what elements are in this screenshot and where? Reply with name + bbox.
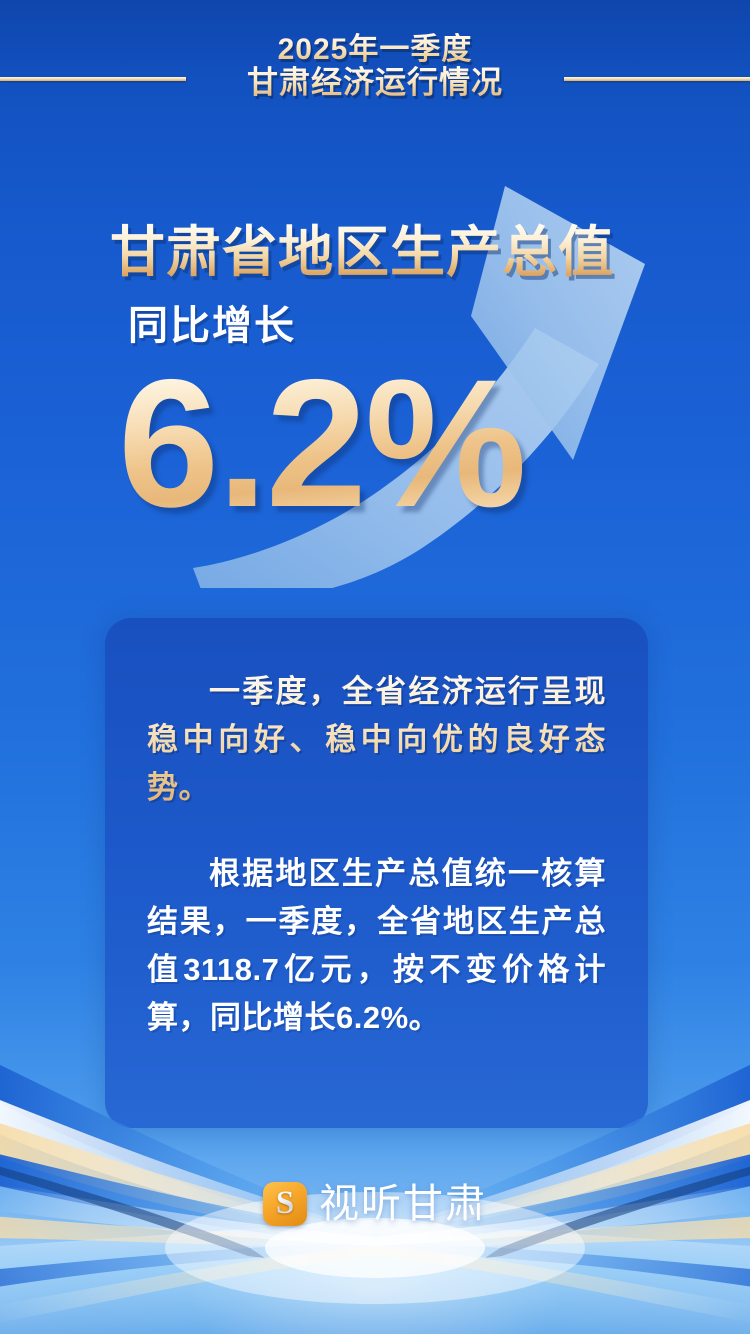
poster-header: 2025年一季度 甘肃经济运行情况 (0, 0, 750, 130)
brand-name: 视听甘肃 (319, 1182, 487, 1226)
logo-letter: S (276, 1187, 294, 1220)
header-title-line1: 2025年一季度 (0, 33, 750, 66)
brand-lockup: S 视听甘肃 (0, 1182, 750, 1226)
summary-paragraph-1: 一季度，全省经济运行呈现稳中向好、稳中向优的良好态势。 (147, 668, 606, 812)
summary-card: 一季度，全省经济运行呈现稳中向好、稳中向优的良好态势。 根据地区生产总值统一核算… (105, 618, 648, 1128)
header-title-group: 2025年一季度 甘肃经济运行情况 (0, 33, 750, 99)
shiting-gansu-logo-icon: S (263, 1182, 307, 1226)
hero-title: 甘肃省地区生产总值 (110, 222, 614, 282)
hero-growth-value: 6.2% (118, 352, 525, 534)
poster-root: 2025年一季度 甘肃经济运行情况 甘肃省地区生产总值 同比增长 6.2% 一季… (0, 0, 750, 1334)
header-title-line2: 甘肃经济运行情况 (0, 66, 750, 99)
summary-paragraph-2: 根据地区生产总值统一核算结果，一季度，全省地区生产总值3118.7亿元，按不变价… (147, 850, 606, 1042)
